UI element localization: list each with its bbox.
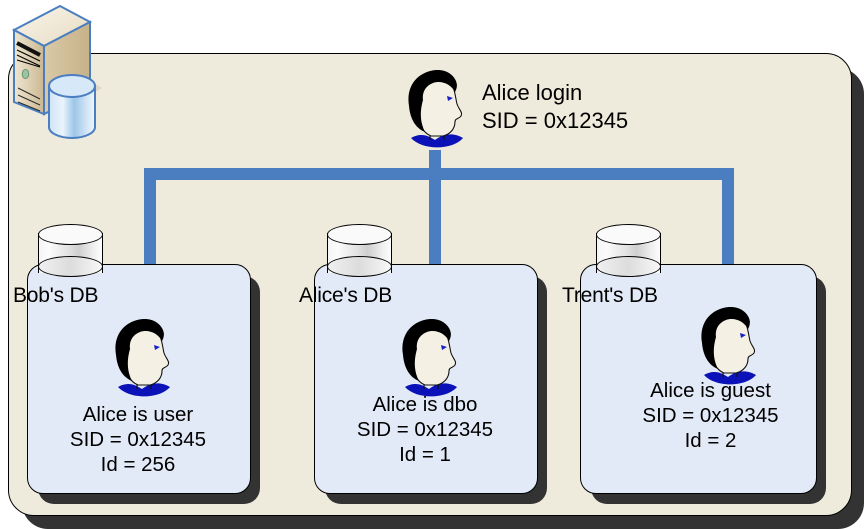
bobs-db-text: Alice is user SID = 0x12345 Id = 256 <box>27 402 249 477</box>
server-database-cylinder <box>49 75 95 138</box>
bobs-db-role: Alice is user <box>27 402 249 427</box>
trents-db-uid: Id = 2 <box>593 428 828 453</box>
bobs-db-cylinder <box>38 224 101 279</box>
trents-db-cylinder <box>596 224 659 279</box>
alice-login-avatar <box>397 66 473 158</box>
diagram-canvas: Alice login SID = 0x12345 Bob's DB Alice… <box>0 0 864 529</box>
alices-db-uid: Id = 1 <box>314 442 536 467</box>
server-tower-icon <box>2 4 134 166</box>
alices-db-label: Alice's DB <box>299 284 392 308</box>
trents-db-sid: SID = 0x12345 <box>593 403 828 428</box>
bobs-db-avatar <box>104 315 180 407</box>
alices-db-text: Alice is dbo SID = 0x12345 Id = 1 <box>314 392 536 467</box>
alice-login-caption: Alice login SID = 0x12345 <box>482 79 628 135</box>
trents-db-text: Alice is guest SID = 0x12345 Id = 2 <box>593 378 828 453</box>
bobs-db-sid: SID = 0x12345 <box>27 427 249 452</box>
trents-db-role: Alice is guest <box>593 378 828 403</box>
bobs-db-uid: Id = 256 <box>27 452 249 477</box>
alice-login-sid: SID = 0x12345 <box>482 107 628 135</box>
alice-login-title: Alice login <box>482 79 628 107</box>
alices-db-role: Alice is dbo <box>314 392 536 417</box>
bobs-db-label: Bob's DB <box>13 284 98 308</box>
alices-db-cylinder <box>327 224 390 279</box>
alices-db-sid: SID = 0x12345 <box>314 417 536 442</box>
trents-db-label: Trent's DB <box>562 284 658 308</box>
